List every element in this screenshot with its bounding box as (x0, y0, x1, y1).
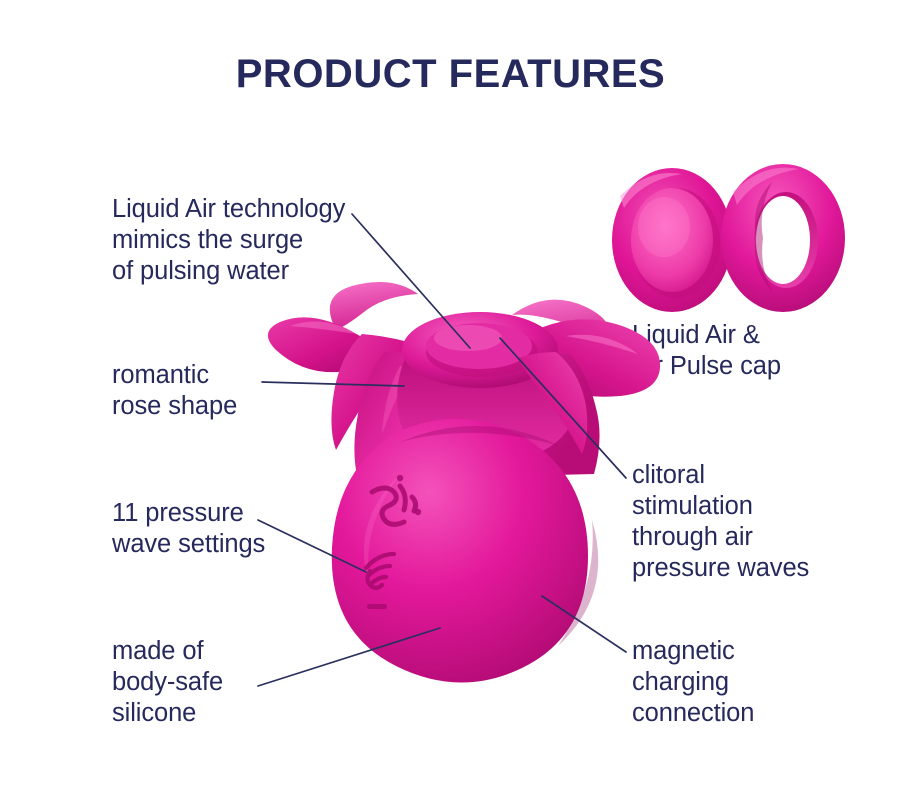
petal-back-left (330, 282, 418, 330)
leader-pressure (258, 520, 366, 572)
petal-back-right (512, 300, 611, 351)
satisfyer-logo (372, 486, 416, 524)
petal-inner-funnel (397, 346, 577, 464)
petal-left-wall (331, 334, 408, 450)
leader-clitoral (500, 338, 626, 478)
callout-liquid-air-pulse-cap: Liquid Air & Air Pulse cap (632, 320, 781, 382)
callout-romantic-rose-shape: romantic rose shape (112, 360, 237, 422)
rose-neck (354, 352, 599, 480)
device-body (332, 419, 588, 683)
liquid-air-cap (612, 168, 732, 312)
rose-device (268, 282, 660, 683)
callout-clitoral-stimulation: clitoral stimulation through air pressur… (632, 460, 809, 584)
petal-right-wall (518, 352, 587, 454)
leader-magnetic (542, 596, 626, 652)
leader-liquid-air (352, 214, 470, 348)
callout-magnetic-charging: magnetic charging connection (632, 636, 754, 729)
callout-body-safe-silicone: made of body-safe silicone (112, 636, 223, 729)
pulse-wave-button[interactable] (366, 554, 394, 588)
leader-silicone (258, 628, 440, 686)
leader-rose-shape (262, 382, 404, 386)
product-features-infographic: PRODUCT FEATURES (0, 0, 901, 789)
center-cap (402, 312, 558, 388)
petal-outer-left (268, 317, 382, 372)
page-title: PRODUCT FEATURES (0, 52, 901, 97)
callout-pressure-wave-settings: 11 pressure wave settings (112, 498, 265, 560)
callout-liquid-air-technology: Liquid Air technology mimics the surge o… (112, 194, 345, 287)
air-pulse-cap (721, 164, 845, 312)
charging-contact (367, 604, 387, 609)
